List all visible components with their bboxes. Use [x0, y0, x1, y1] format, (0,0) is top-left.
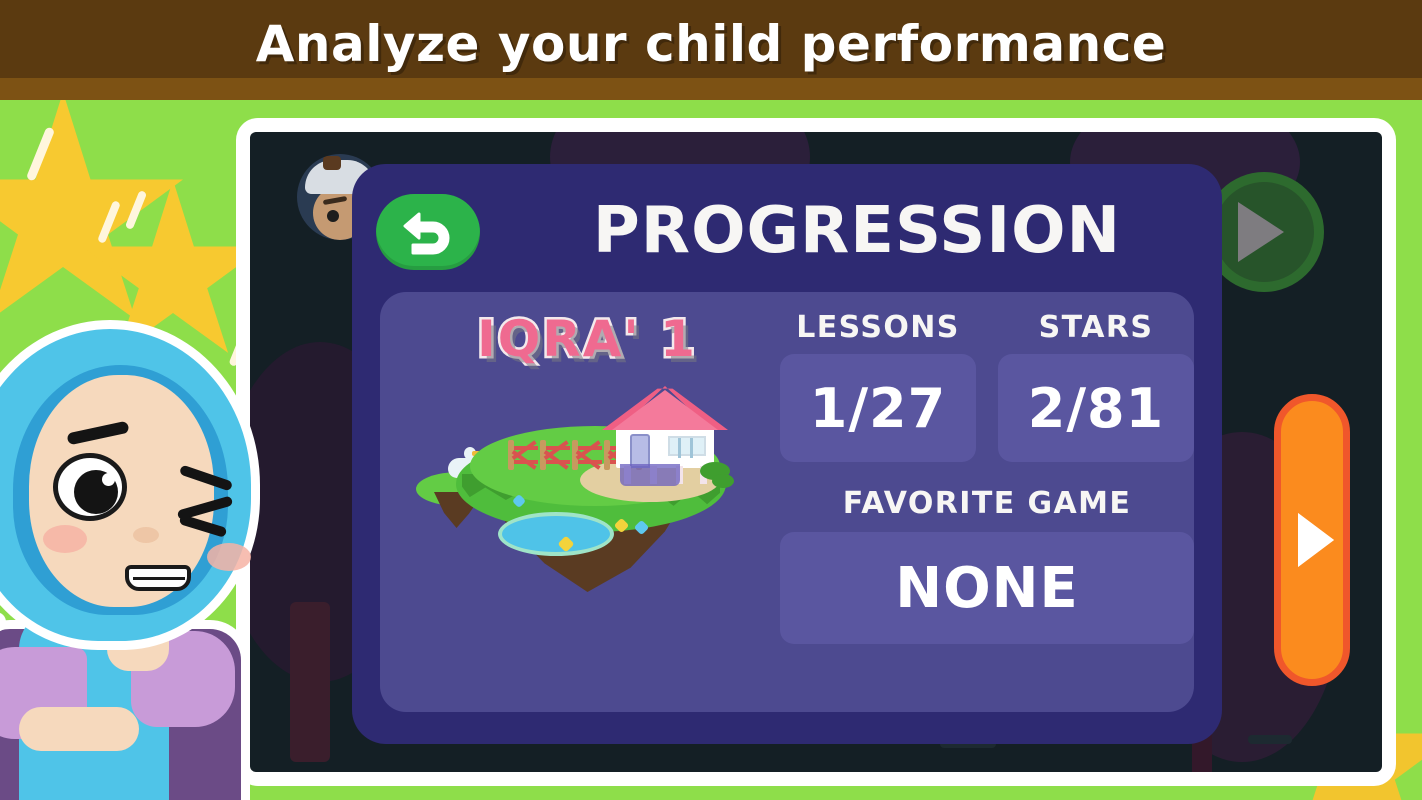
- pond: [498, 512, 614, 556]
- character-arm: [19, 707, 139, 751]
- play-button-inner: [1214, 182, 1314, 282]
- character-mouth-line: [133, 577, 185, 580]
- character-pupil: [74, 470, 118, 514]
- fence-rail: [578, 446, 602, 464]
- bush: [712, 474, 734, 488]
- stat-lessons-label: LESSONS: [780, 308, 976, 348]
- house-door: [630, 434, 650, 468]
- stat-favorite-game-label: FAVORITE GAME: [780, 484, 1194, 524]
- character-hijab: [0, 320, 260, 650]
- level-preview: IQRA' 1: [404, 300, 764, 690]
- window-bar: [678, 438, 681, 458]
- promo-headline: Analyze your child performance: [0, 0, 1422, 88]
- house-roof-inner: [612, 390, 718, 430]
- level-name: IQRA' 1: [422, 310, 752, 368]
- stat-lessons: LESSONS 1/27: [780, 308, 976, 462]
- character-nose: [133, 527, 159, 543]
- play-button-icon[interactable]: [1204, 172, 1324, 292]
- page-title: PROGRESSION: [512, 186, 1202, 276]
- back-button[interactable]: [376, 194, 480, 270]
- progression-card: IQRA' 1: [380, 292, 1194, 712]
- mascot-character: [0, 320, 290, 800]
- game-screen: PROGRESSION IQRA' 1: [250, 132, 1382, 772]
- stat-stars: STARS 2/81: [998, 308, 1194, 462]
- stat-stars-value: 2/81: [998, 354, 1194, 462]
- window-bar: [690, 438, 693, 458]
- stat-favorite-game-value: NONE: [780, 532, 1194, 644]
- avatar-eye: [327, 210, 339, 222]
- floating-island-illustration: [410, 366, 760, 626]
- house-body: [616, 424, 714, 468]
- stat-stars-label: STARS: [998, 308, 1194, 348]
- fence-rail: [546, 446, 570, 464]
- stat-lessons-value: 1/27: [780, 354, 976, 462]
- background-scenery: [290, 602, 330, 762]
- character-eyebrow: [66, 421, 129, 446]
- house-window: [668, 436, 706, 456]
- fence-rail: [514, 446, 538, 464]
- device-frame: PROGRESSION IQRA' 1: [236, 118, 1396, 786]
- character-pupil-glint: [102, 473, 115, 486]
- character-cheek-left: [43, 525, 87, 553]
- play-triangle-right-icon: [1298, 513, 1334, 567]
- promo-banner: Analyze your child performance: [0, 0, 1422, 100]
- character-cheek-right: [207, 543, 251, 571]
- stat-favorite-game: FAVORITE GAME NONE: [780, 484, 1194, 644]
- back-undo-arrow-icon: [397, 208, 459, 256]
- character-mouth: [125, 565, 191, 591]
- stats-area: LESSONS 1/27 STARS 2/81 FAVORITE GAME NO…: [780, 308, 1180, 698]
- banner-bottom-stripe: [0, 78, 1422, 100]
- character-face: [29, 375, 214, 607]
- progression-overlay: PROGRESSION IQRA' 1: [352, 164, 1222, 744]
- avatar-brow: [323, 196, 348, 205]
- avatar-cap-badge: [323, 156, 341, 170]
- next-level-button[interactable]: [1274, 394, 1350, 686]
- background-scenery: [1248, 735, 1292, 744]
- house-shadow: [620, 464, 680, 486]
- character-eye: [53, 453, 127, 521]
